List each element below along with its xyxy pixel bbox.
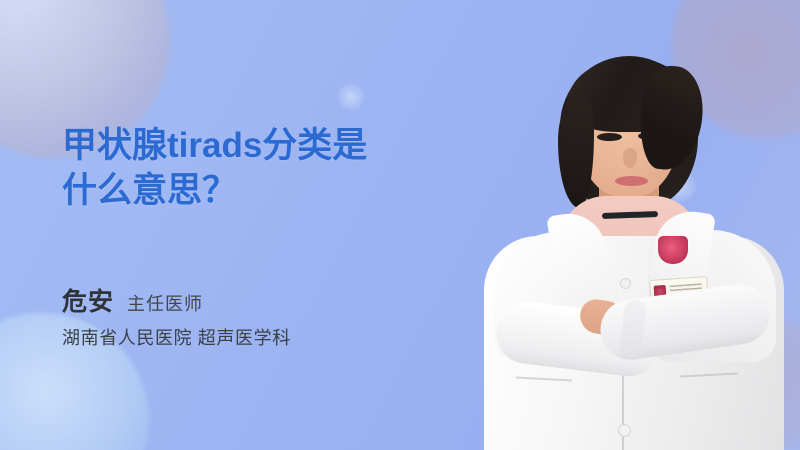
page-title-line-2: 什么意思？ [62,169,532,214]
portrait-coat-button-bottom [618,424,631,437]
portrait-hair-side-left [558,96,594,208]
doctor-credentials: 危安 主任医师 湖南省人民医院 超声医学科 [62,282,482,350]
doctor-rank: 主任医师 [127,290,203,316]
page-title: 甲状腺tirads分类是 什么意思？ [62,124,532,214]
doctor-affiliation: 湖南省人民医院 超声医学科 [62,324,482,350]
portrait-nose [623,148,637,168]
portrait-mouth [615,176,648,186]
doctor-name-row: 危安 主任医师 [62,282,482,318]
doctor-name: 危安 [62,282,114,318]
doctor-portrait [472,0,800,450]
hospital-emblem-badge-icon [658,236,688,264]
portrait-coat-button-top [620,278,631,289]
decorative-dot-center-icon [338,84,364,110]
page-title-line-1: 甲状腺tirads分类是 [62,124,532,169]
portrait-eye-left [597,133,622,141]
video-cover-slide: 甲状腺tirads分类是 什么意思？ 危安 主任医师 湖南省人民医院 超声医学科 [0,0,800,450]
